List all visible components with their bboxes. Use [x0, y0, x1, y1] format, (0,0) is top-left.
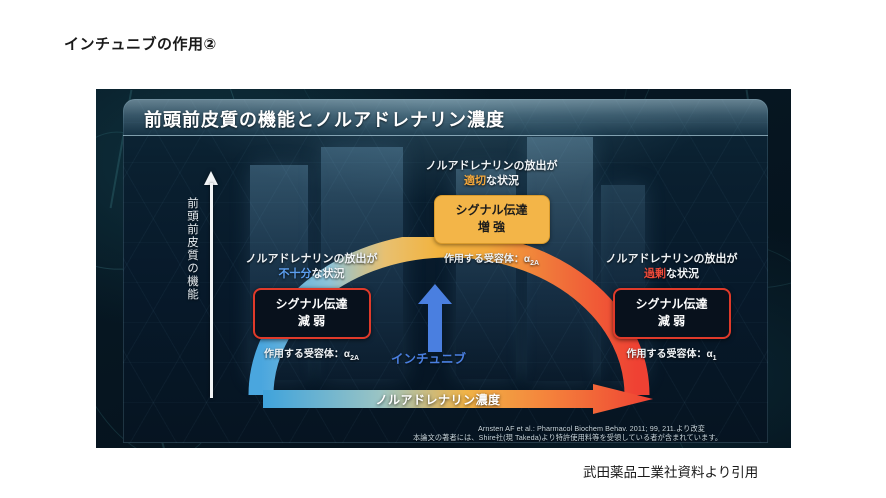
annotation-rest: な状況	[312, 268, 345, 280]
annotation-highlight: 適切	[464, 175, 486, 187]
page-title: インチュニブの作用②	[64, 33, 217, 54]
source-attribution: 武田薬品工業社資料より引用	[583, 461, 758, 481]
annotation-line2: 過剰な状況	[584, 267, 759, 282]
signal-box-line1: シグナル伝達	[435, 202, 549, 219]
panel-header-bar: 前頭前皮質の機能とノルアドレナリン濃度	[123, 99, 768, 136]
annotation-highlight: 不十分	[279, 268, 312, 280]
y-axis-line	[210, 183, 213, 398]
signal-box-line2: 増 強	[435, 219, 549, 236]
concentration-arrow-label: ノルアドレナリン濃度	[263, 391, 613, 408]
receptor-label: 作用する受容体：α2A	[224, 345, 399, 362]
slide-image: 前頭前皮質の機能とノルアドレナリン濃度 前頭前皮質の機能	[96, 89, 791, 448]
annotation-block-excessive: ノルアドレナリンの放出が 過剰な状況 シグナル伝達 減 弱 作用する受容体：α1	[584, 252, 759, 362]
guanfacine-label: インチュニブ	[391, 348, 466, 367]
annotation-line2: 適切な状況	[404, 174, 579, 189]
panel-header-title: 前頭前皮質の機能とノルアドレナリン濃度	[144, 106, 505, 132]
annotation-highlight: 過剰	[644, 268, 666, 280]
signal-box-line2: 減 弱	[255, 313, 369, 330]
receptor-label: 作用する受容体：α2A	[404, 250, 579, 267]
receptor-label: 作用する受容体：α1	[584, 345, 759, 362]
receptor-subscript: 2A	[530, 260, 539, 267]
annotation-rest: な状況	[486, 175, 519, 187]
signal-box-weakened: シグナル伝達 減 弱	[253, 288, 371, 339]
signal-box-weakened: シグナル伝達 減 弱	[613, 288, 731, 339]
slide-panel: 前頭前皮質の機能とノルアドレナリン濃度 前頭前皮質の機能	[123, 99, 768, 443]
annotation-rest: な状況	[666, 268, 699, 280]
receptor-prefix: 作用する受容体：α	[444, 254, 530, 265]
signal-box-enhanced: シグナル伝達 増 強	[434, 195, 550, 244]
annotation-block-optimal: ノルアドレナリンの放出が 適切な状況 シグナル伝達 増 強 作用する受容体：α2…	[404, 159, 579, 267]
receptor-subscript: 1	[713, 355, 717, 362]
y-axis-label: 前頭前皮質の機能	[181, 197, 199, 301]
signal-box-line1: シグナル伝達	[615, 296, 729, 313]
receptor-prefix: 作用する受容体：α	[264, 349, 350, 360]
receptor-prefix: 作用する受容体：α	[626, 349, 712, 360]
annotation-block-insufficient: ノルアドレナリンの放出が 不十分な状況 シグナル伝達 減 弱 作用する受容体：α…	[224, 252, 399, 362]
signal-box-line2: 減 弱	[615, 313, 729, 330]
signal-box-line1: シグナル伝達	[255, 296, 369, 313]
footnote-disclosure: 本論文の著者には、Shire社(現 Takeda)より特許使用料等を受領している…	[413, 433, 722, 443]
receptor-subscript: 2A	[350, 355, 359, 362]
annotation-line1: ノルアドレナリンの放出が	[584, 252, 759, 267]
annotation-line1: ノルアドレナリンの放出が	[404, 159, 579, 174]
annotation-line2: 不十分な状況	[224, 267, 399, 282]
annotation-line1: ノルアドレナリンの放出が	[224, 252, 399, 267]
guanfacine-up-arrow-icon	[418, 284, 452, 352]
